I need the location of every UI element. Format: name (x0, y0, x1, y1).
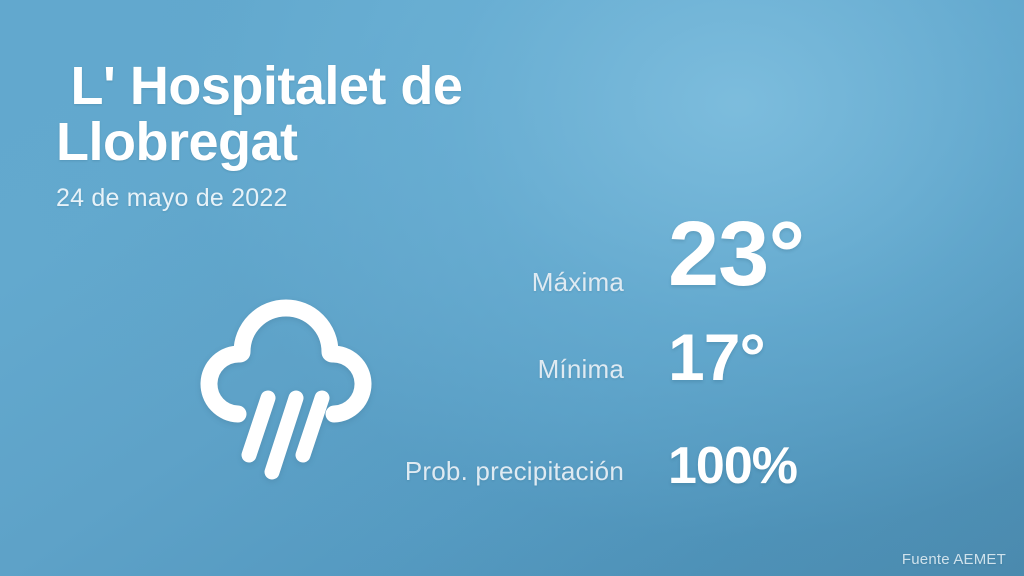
reading-label-maxima: Máxima (380, 267, 668, 298)
rain-cloud-icon (186, 288, 386, 488)
reading-value-maxima: 23° (668, 208, 804, 300)
source-attribution: Fuente AEMET (902, 551, 1006, 568)
date-label: 24 de mayo de 2022 (56, 170, 676, 213)
readings-list: Máxima 23° Mínima 17° Prob. precipitació… (380, 208, 980, 520)
reading-value-minima: 17° (668, 324, 765, 390)
weather-card: L' Hospitalet de Llobregat 24 de mayo de… (0, 0, 1024, 576)
header: L' Hospitalet de Llobregat 24 de mayo de… (56, 58, 676, 213)
reading-label-precipitacion: Prob. precipitación (380, 456, 668, 487)
reading-value-precipitacion: 100% (668, 440, 797, 492)
reading-row-precipitacion: Prob. precipitación 100% (380, 440, 980, 520)
reading-row-maxima: Máxima 23° (380, 208, 980, 324)
rain-cloud-icon-glyph (186, 288, 386, 488)
reading-row-minima: Mínima 17° (380, 324, 980, 440)
page-title: L' Hospitalet de Llobregat (56, 58, 676, 170)
reading-label-minima: Mínima (380, 354, 668, 385)
